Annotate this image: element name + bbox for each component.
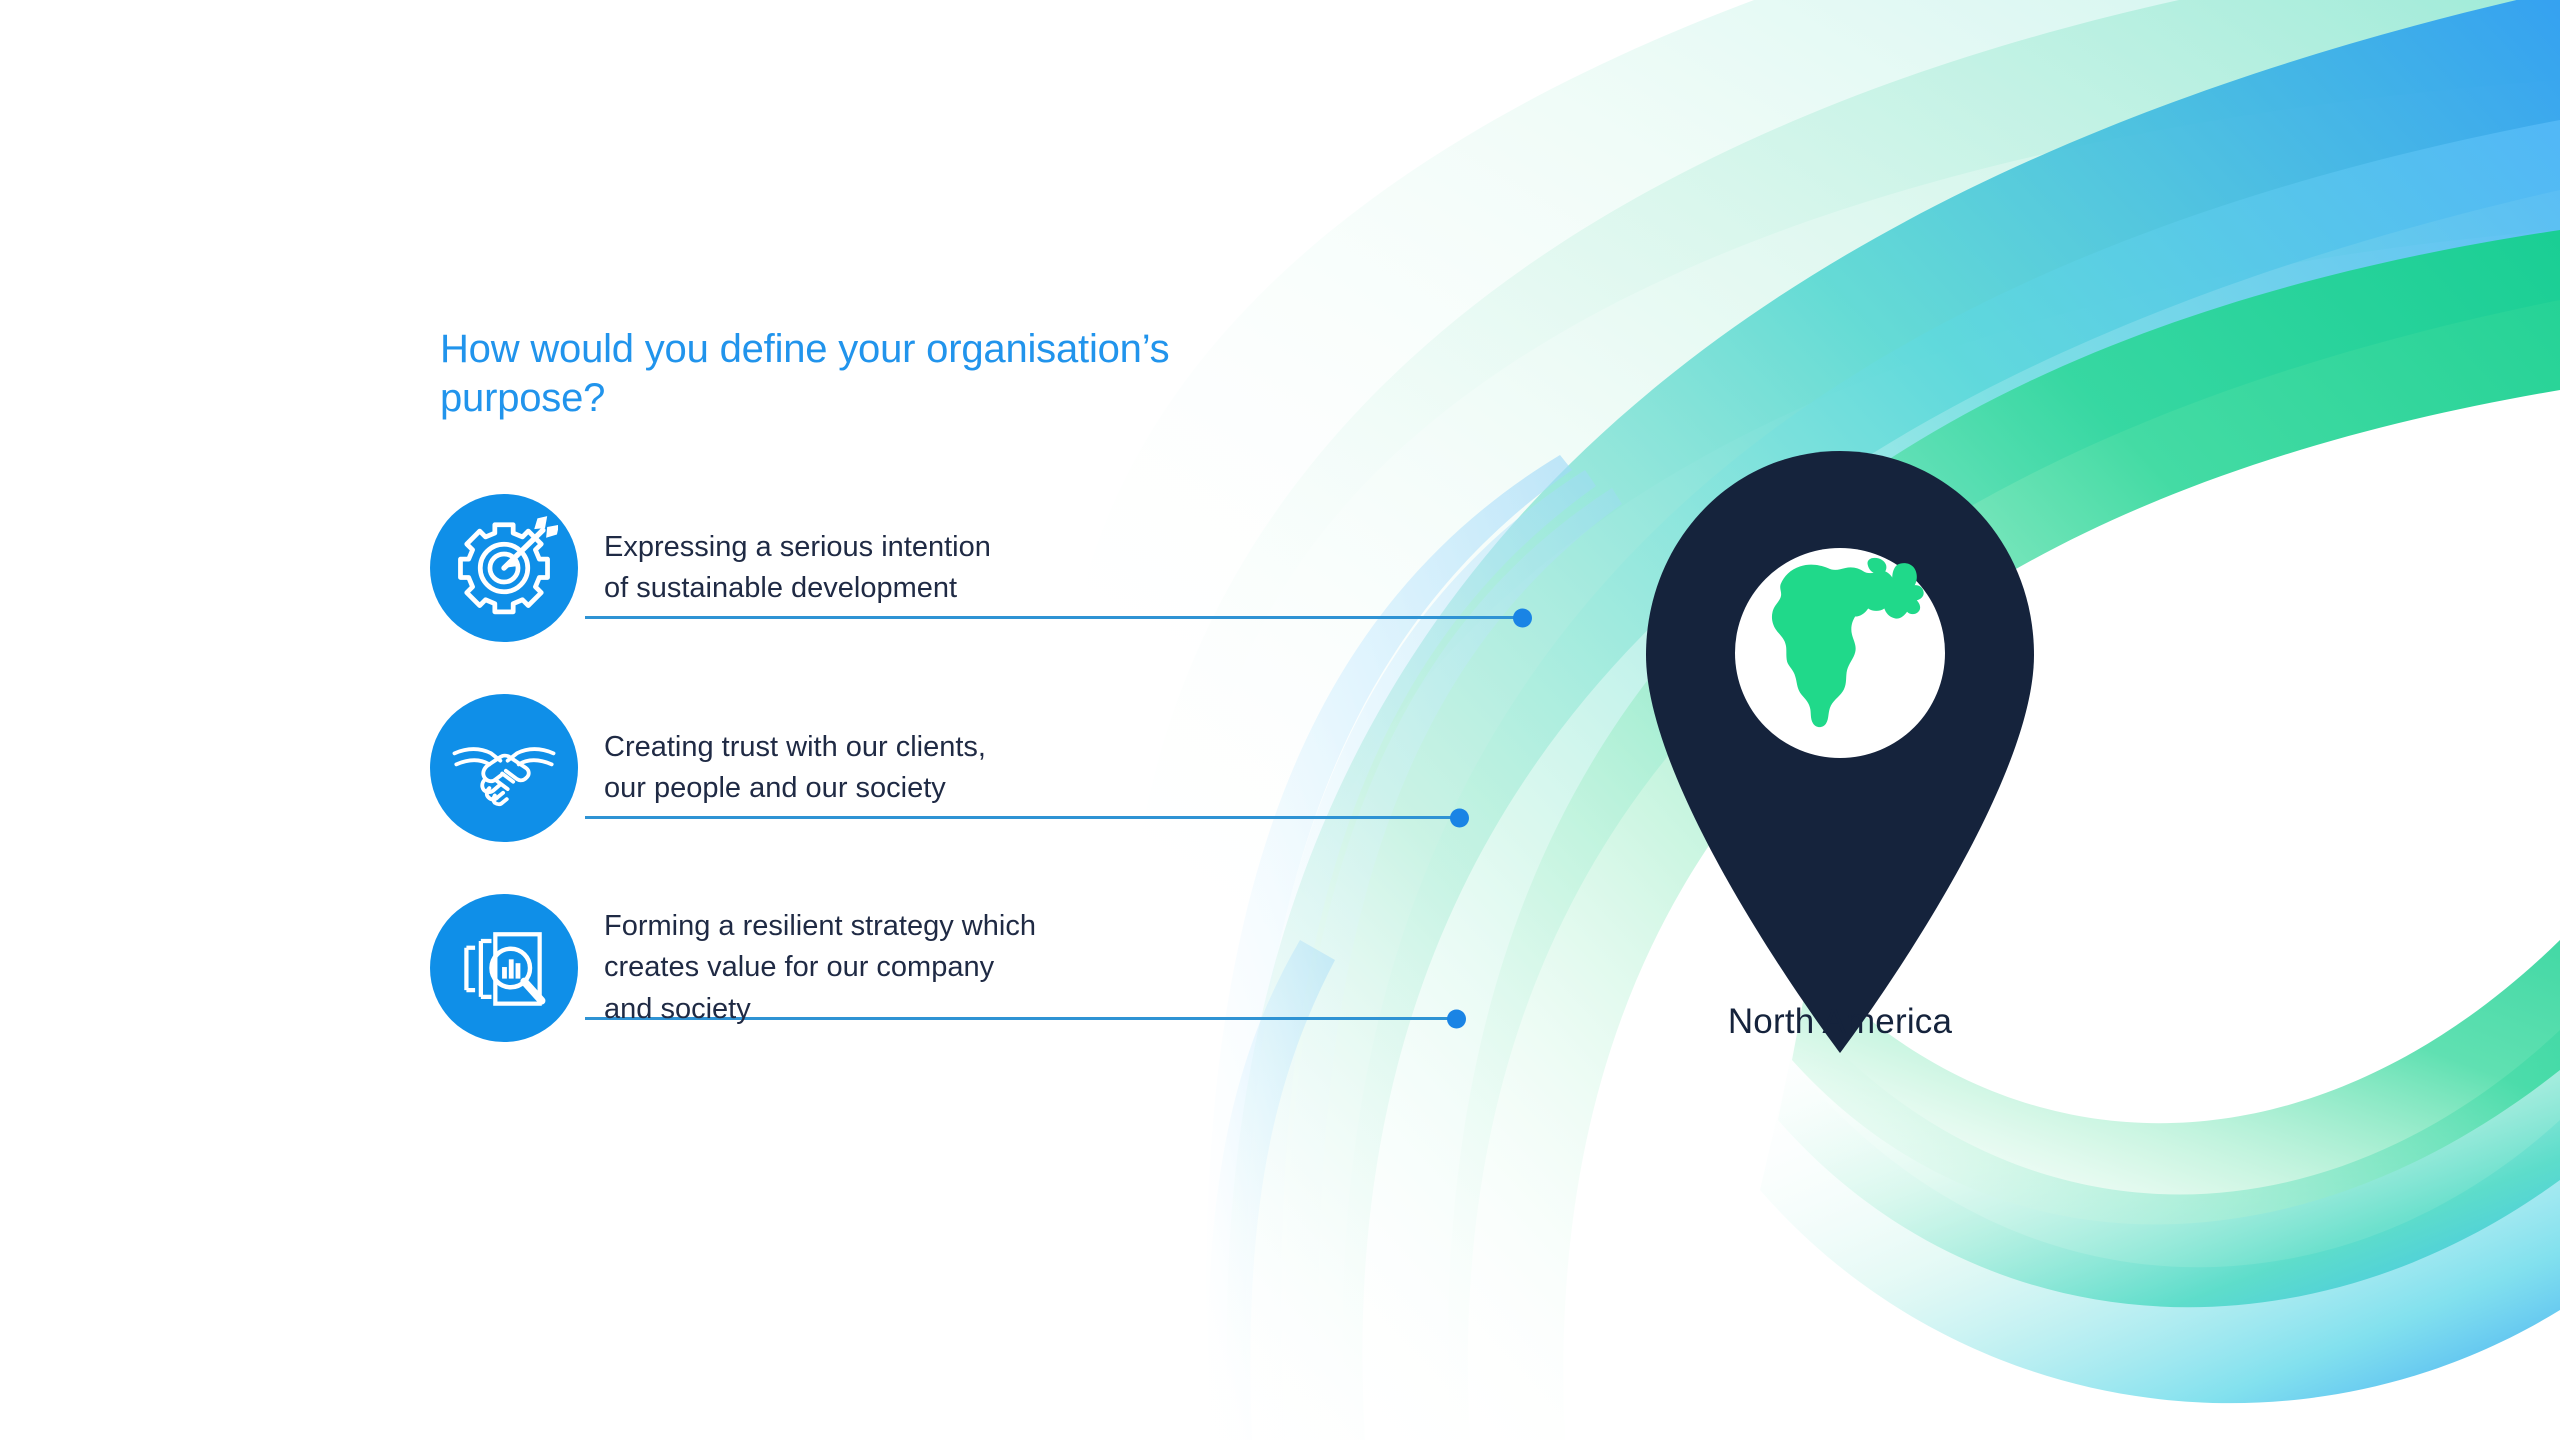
list-item[interactable]: Expressing a serious intention of sustai…	[430, 483, 1390, 653]
page-title: How would you define your organisation’s…	[440, 325, 1310, 423]
map-pin-icon[interactable]	[1630, 405, 2050, 1055]
purpose-item-list: Expressing a serious intention of sustai…	[430, 483, 1390, 1053]
list-item[interactable]: Creating trust with our clients, our peo…	[430, 683, 1390, 853]
list-item[interactable]: Forming a resilient strategy which creat…	[430, 883, 1390, 1053]
connector-dot-3	[1447, 1009, 1466, 1028]
list-item-label: Forming a resilient strategy which creat…	[604, 906, 1036, 1030]
region-label: North America	[1630, 1002, 2050, 1042]
document-magnifier-chart-icon	[430, 894, 578, 1042]
connector-line-1	[585, 616, 1523, 619]
slide-canvas: How would you define your organisation’s…	[0, 0, 2560, 1440]
handshake-icon	[430, 694, 578, 842]
list-item-label: Creating trust with our clients, our peo…	[604, 727, 986, 809]
gear-target-arrow-icon	[430, 494, 578, 642]
connector-line-2	[585, 816, 1460, 819]
list-item-label: Expressing a serious intention of sustai…	[604, 527, 991, 609]
headline-block: How would you define your organisation’s…	[440, 325, 1340, 423]
connector-dot-2	[1450, 808, 1469, 827]
connector-dot-1	[1513, 608, 1532, 627]
